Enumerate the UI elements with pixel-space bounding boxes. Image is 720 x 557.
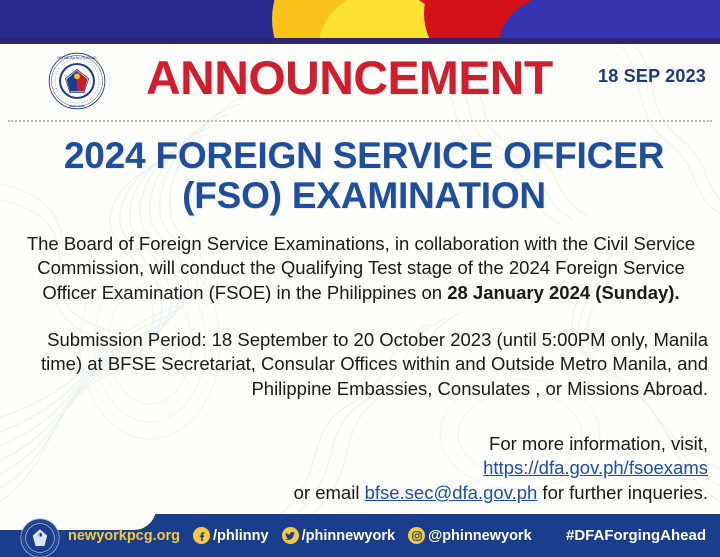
- facebook-icon: [193, 527, 210, 544]
- footer-hashtag: #DFAForgingAhead: [566, 514, 706, 557]
- page-title-line-2: (FSO) EXAMINATION: [30, 176, 698, 216]
- twitter-icon: [282, 527, 299, 544]
- philippine-consulate-seal-icon: REPUBLIKA NG PILIPINAS NEW YORK: [48, 52, 106, 110]
- footer-facebook-group[interactable]: /phlinny: [193, 527, 269, 544]
- svg-text:REPUBLIKA NG PILIPINAS: REPUBLIKA NG PILIPINAS: [57, 56, 96, 60]
- submission-period-paragraph: Submission Period: 18 September to 20 Oc…: [14, 328, 708, 401]
- bfse-email-link[interactable]: bfse.sec@dfa.gov.ph: [365, 482, 538, 503]
- email-suffix-text: for further inqueries.: [537, 482, 708, 503]
- publication-date: 18 SEP 2023: [598, 66, 706, 87]
- top-decorative-banner: [0, 0, 720, 44]
- exam-date-emphasis: 28 January 2024 (Sunday).: [447, 282, 679, 303]
- footer-twitter-group[interactable]: /phinnewyork: [282, 527, 395, 544]
- exam-schedule-paragraph: The Board of Foreign Service Examination…: [14, 232, 708, 305]
- contact-info-paragraph: For more information, visit, https://dfa…: [14, 432, 708, 505]
- svg-text:NEW YORK: NEW YORK: [69, 104, 85, 108]
- footer-consulate-seal-icon: [20, 518, 60, 557]
- footer-website-link[interactable]: newyorkpcg.org: [68, 528, 180, 544]
- announcement-poster: REPUBLIKA NG PILIPINAS NEW YORK ANNOUNCE…: [0, 0, 720, 557]
- instagram-icon: [408, 527, 425, 544]
- footer-bar: newyorkpcg.org /phlinny /phinnewyork: [0, 514, 720, 557]
- facebook-handle: /phlinny: [213, 528, 269, 544]
- announcement-heading: ANNOUNCEMENT: [146, 54, 553, 101]
- announcement-header: REPUBLIKA NG PILIPINAS NEW YORK ANNOUNCE…: [0, 46, 720, 114]
- instagram-handle: @phinnewyork: [428, 528, 532, 544]
- email-prefix-text: or email: [294, 482, 365, 503]
- page-title: 2024 FOREIGN SERVICE OFFICER (FSO) EXAMI…: [30, 136, 698, 216]
- submission-period-text: Submission Period: 18 September to 20 Oc…: [41, 329, 708, 399]
- fsoexams-website-link[interactable]: https://dfa.gov.ph/fsoexams: [483, 457, 708, 478]
- footer-links-group: newyorkpcg.org /phlinny /phinnewyork: [68, 514, 532, 557]
- page-title-line-1: 2024 FOREIGN SERVICE OFFICER: [64, 135, 664, 176]
- more-information-text: For more information, visit,: [489, 433, 708, 454]
- header-divider: [8, 120, 712, 122]
- twitter-handle: /phinnewyork: [302, 528, 395, 544]
- footer-instagram-group[interactable]: @phinnewyork: [408, 527, 532, 544]
